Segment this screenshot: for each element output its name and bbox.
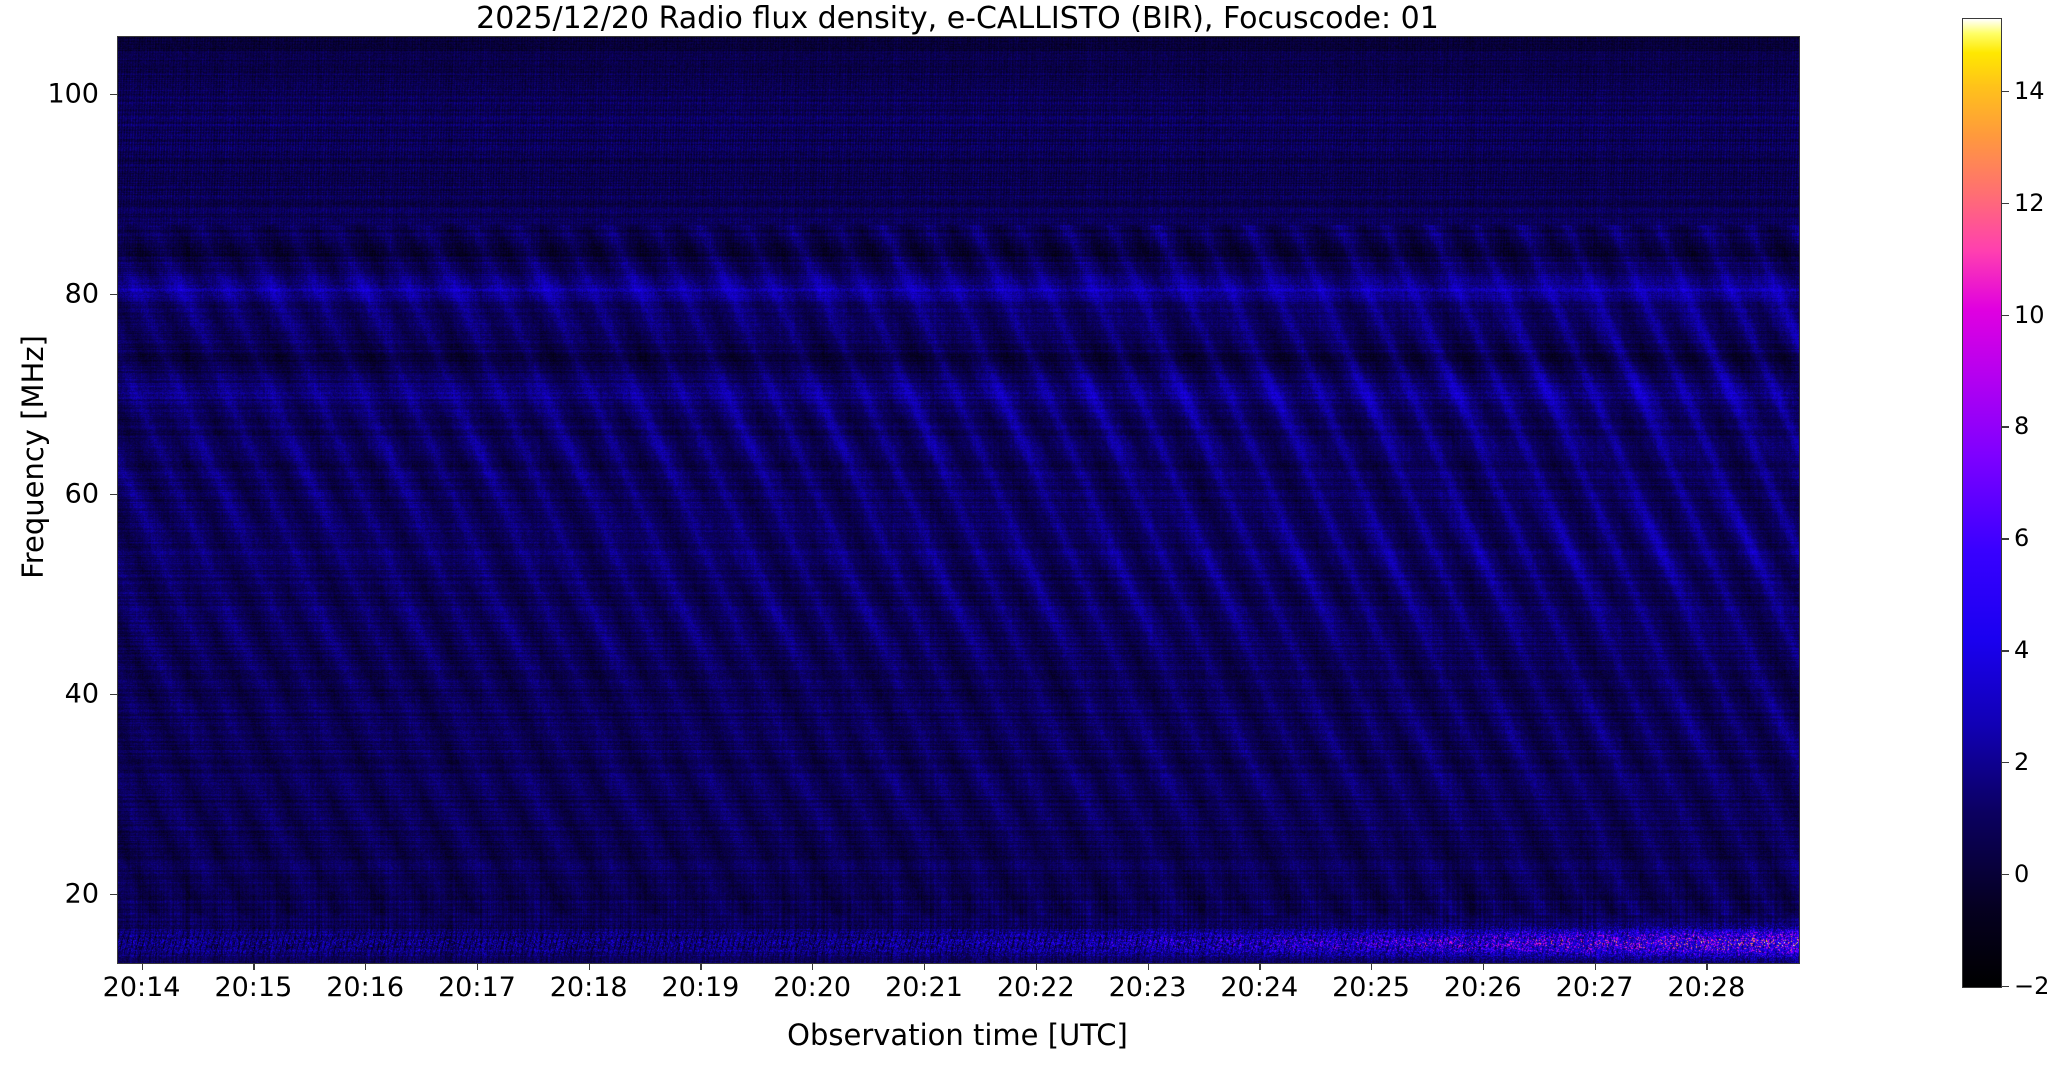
colorbar-tick-mark [2002,203,2009,204]
x-tick-mark [253,963,254,970]
x-axis-label: Observation time [UTC] [117,1018,1798,1052]
colorbar-tick-label: 4 [2014,636,2029,664]
y-tick-label: 60 [29,479,99,510]
colorbar-tick-mark [2002,538,2009,539]
colorbar-tick-mark [2002,986,2009,987]
x-tick-mark [1706,963,1707,970]
colorbar-tick-label: 12 [2014,189,2045,217]
colorbar-tick-label: 2 [2014,748,2029,776]
y-tick-mark [110,894,117,895]
colorbar-tick-mark [2002,91,2009,92]
y-tick-mark [110,494,117,495]
x-tick-mark [1595,963,1596,970]
colorbar [1962,18,2002,988]
x-tick-mark [700,963,701,970]
x-tick-mark [142,963,143,970]
colorbar-tick-label: 0 [2014,860,2029,888]
x-tick-mark [812,963,813,970]
x-tick-mark [365,963,366,970]
spectrogram-axes[interactable] [117,36,1800,964]
colorbar-gradient [1963,19,2001,987]
colorbar-tick-label: 8 [2014,412,2029,440]
page-title: 2025/12/20 Radio flux density, e-CALLIST… [117,2,1798,36]
y-tick-mark [110,94,117,95]
y-tick-label: 20 [29,879,99,910]
x-tick-mark [477,963,478,970]
colorbar-tick-label: 14 [2014,77,2045,105]
colorbar-tick-mark [2002,650,2009,651]
y-tick-mark [110,694,117,695]
colorbar-tick-mark [2002,315,2009,316]
colorbar-tick-mark [2002,874,2009,875]
x-tick-mark [1036,963,1037,970]
x-tick-mark [924,963,925,970]
spectrogram-figure: 2025/12/20 Radio flux density, e-CALLIST… [0,0,2066,1067]
x-tick-mark [1483,963,1484,970]
x-tick-mark [589,963,590,970]
y-tick-label: 80 [29,279,99,310]
y-tick-label: 40 [29,679,99,710]
y-axis-label: Frequency [MHz] [16,0,50,920]
x-tick-label: 20:28 [1626,972,1786,1003]
colorbar-tick-label: 6 [2014,524,2029,552]
y-tick-mark [110,294,117,295]
y-tick-label: 100 [29,79,99,110]
colorbar-tick-mark [2002,426,2009,427]
x-tick-mark [1259,963,1260,970]
x-tick-mark [1148,963,1149,970]
colorbar-tick-label: 10 [2014,301,2045,329]
spectrogram-heatmap [118,37,1799,963]
colorbar-tick-mark [2002,762,2009,763]
x-tick-mark [1371,963,1372,970]
colorbar-tick-label: −2 [2014,972,2049,1000]
